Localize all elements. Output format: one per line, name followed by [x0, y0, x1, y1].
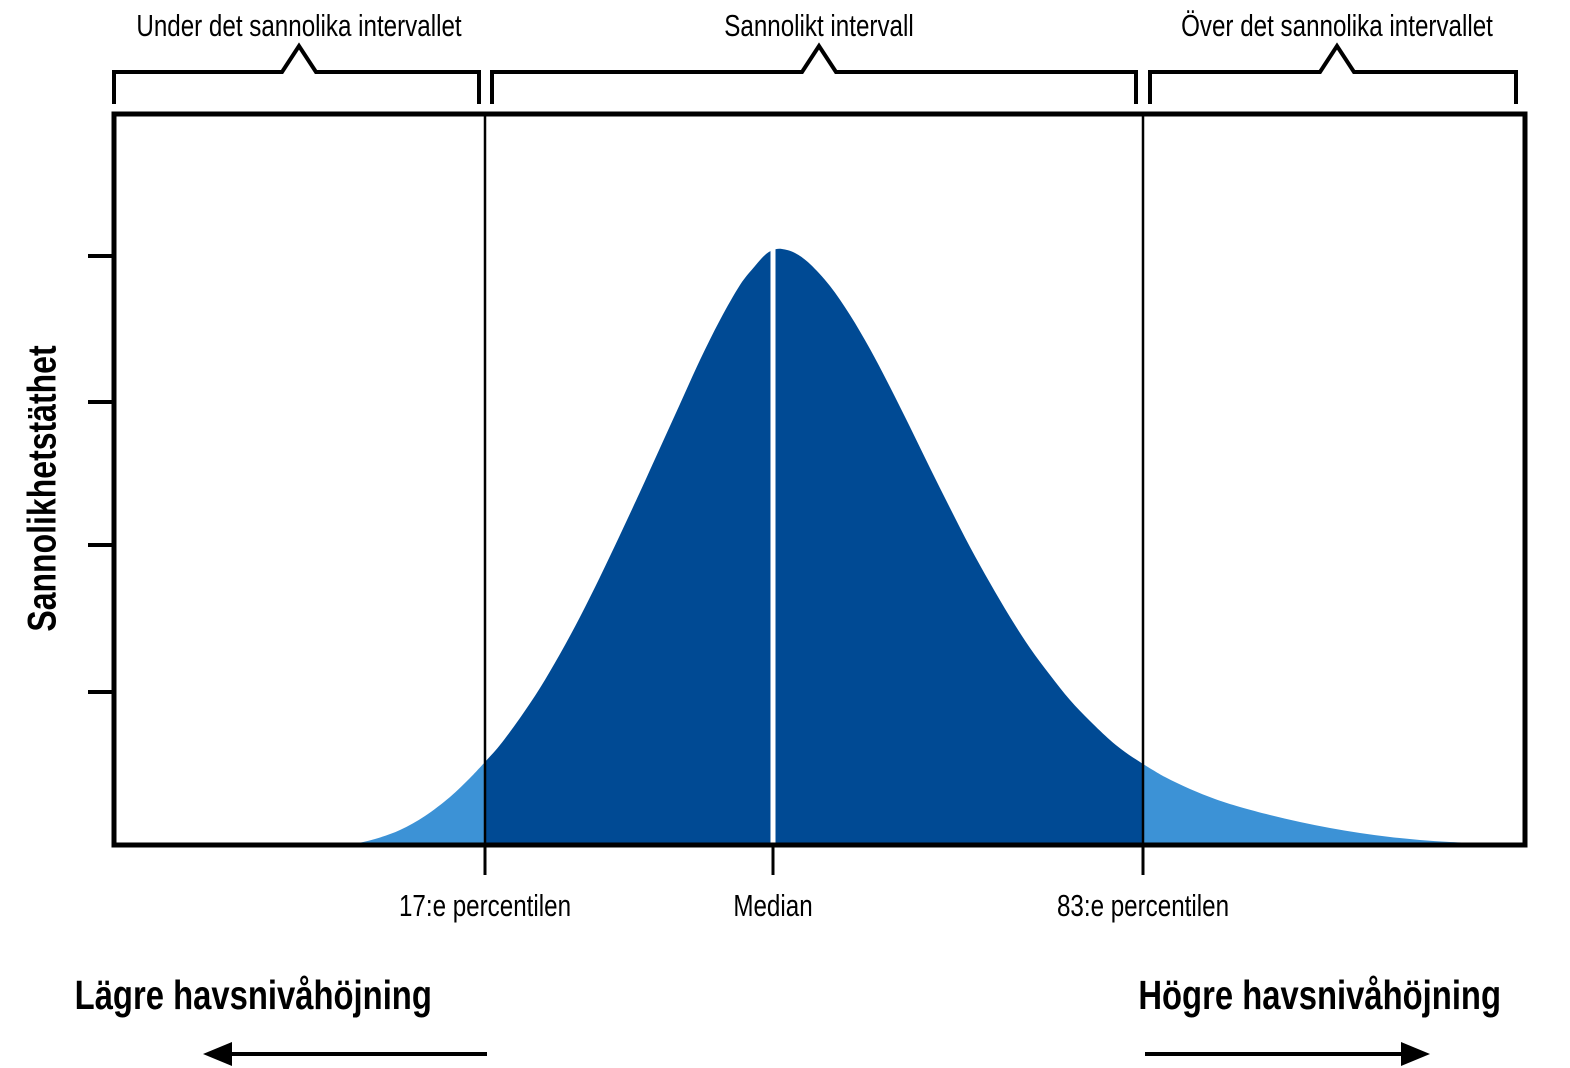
arrow-right-head-icon [1401, 1042, 1430, 1066]
x-axis-ticks [485, 845, 1143, 875]
x-tick-label-83rd-percentile: 83:e percentilen [901, 888, 1385, 924]
caption-lower-sea-level-rise: Lägre havsnivåhöjning [75, 972, 432, 1019]
chart-figure: Under det sannolika intervallet Sannolik… [0, 0, 1570, 1068]
bracket-1 [492, 46, 1136, 104]
caption-higher-sea-level-rise: Högre havsnivåhöjning [1138, 972, 1501, 1019]
bracket-2 [1150, 46, 1516, 104]
y-axis-ticks [88, 256, 114, 692]
bracket-0 [114, 46, 479, 104]
direction-arrows [203, 1042, 1430, 1066]
arrow-left-head-icon [203, 1042, 232, 1066]
bracket-group [114, 46, 1516, 104]
